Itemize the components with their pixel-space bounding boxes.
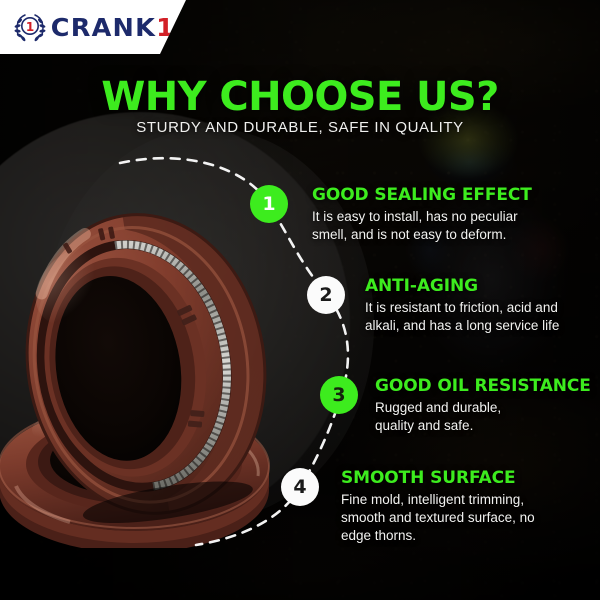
feature-item-2: 2 ANTI-AGING It is resistant to friction…: [307, 276, 600, 335]
brand-wordmark: CRANK1: [51, 15, 175, 40]
feature-badge-4: 4: [281, 468, 319, 506]
feature-badge-3-number: 3: [332, 384, 345, 406]
feature-item-4: 4 SMOOTH SURFACE Fine mold, intelligent …: [281, 468, 600, 546]
feature-heading-3: GOOD OIL RESISTANCE: [375, 376, 600, 396]
feature-badge-2-number: 2: [319, 284, 332, 306]
feature-heading-4: SMOOTH SURFACE: [341, 468, 600, 488]
brand-wordmark-main: CRANK: [51, 15, 156, 40]
feature-heading-1: GOOD SEALING EFFECT: [312, 185, 600, 205]
feature-badge-3: 3: [320, 376, 358, 414]
product-image-oil-seals: [0, 168, 286, 548]
feature-item-1: 1 GOOD SEALING EFFECT It is easy to inst…: [250, 185, 600, 244]
brand-logo-banner[interactable]: 1 CRANK1: [0, 0, 186, 54]
feature-body-3: Rugged and durable, quality and safe.: [375, 399, 600, 435]
feature-body-1: It is easy to install, has no peculiar s…: [312, 208, 600, 244]
page-subtitle: STURDY AND DURABLE, SAFE IN QUALITY: [0, 119, 600, 136]
feature-body-2: It is resistant to friction, acid and al…: [365, 299, 600, 335]
laurel-wreath-number-one-icon: 1: [12, 10, 48, 44]
feature-badge-1-number: 1: [262, 193, 275, 215]
page-title: WHY CHOOSE US?: [0, 74, 600, 120]
svg-text:1: 1: [26, 20, 34, 34]
feature-heading-2: ANTI-AGING: [365, 276, 600, 296]
feature-badge-2: 2: [307, 276, 345, 314]
feature-item-3: 3 GOOD OIL RESISTANCE Rugged and durable…: [320, 376, 600, 435]
infographic-canvas: 1 GOOD SEALING EFFECT It is easy to inst…: [0, 0, 600, 600]
feature-badge-1: 1: [250, 185, 288, 223]
feature-badge-4-number: 4: [293, 476, 306, 498]
feature-body-4: Fine mold, intelligent trimming, smooth …: [341, 491, 600, 546]
